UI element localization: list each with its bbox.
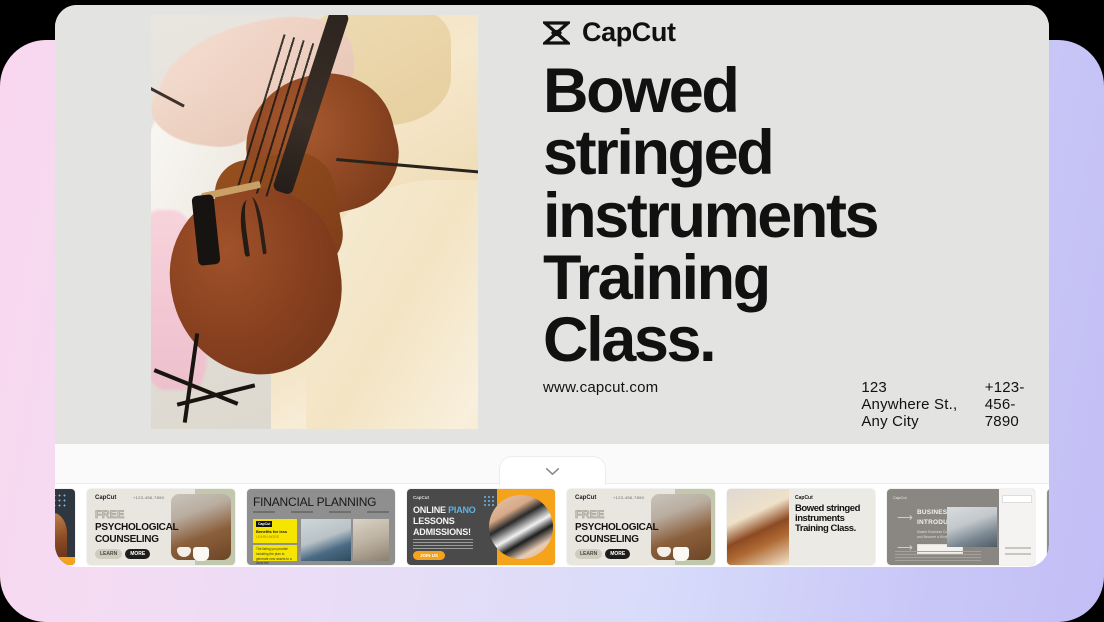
thumb-orange-bar [55,557,75,565]
thumb-cta-left: LEARN [95,549,122,559]
poster-headline: Bowed stringed instruments Training Clas… [543,60,1043,372]
thumb-piano-keys-photo [489,495,553,559]
thumb-brand: CapCut [795,495,813,501]
thumb-line-1: PSYCHOLOGICAL [95,522,178,533]
thumb-note-text: The listing you provide including the pl… [256,547,297,565]
thumb-photo-b [353,519,389,561]
poster-brand: CapCut [543,17,676,48]
poster-phone: +123-456-7890 [985,379,1039,430]
thumb-line-1: PSYCHOLOGICAL [575,522,658,533]
thumbnail-item-bowed-stringed-selected[interactable]: CapCut Bowed stringed instruments Traini… [727,489,875,565]
poster-contact-row: www.capcut.com 123 Anywhere St., Any Cit… [543,379,1039,430]
thumb-list-line-a [1005,547,1031,549]
thumb-list-line-b [1005,553,1031,555]
template-thumbnail-strip[interactable]: CapCut +123-456-7890 FREE PSYCHOLOGICAL … [55,485,1049,567]
thumb-search-box [1002,495,1032,503]
thumb-meta [253,511,389,513]
thumb-body-text [895,551,981,561]
thumbnail-item-psychological-counseling[interactable]: CapCut +123-456-7890 FREE PSYCHOLOGICAL … [87,489,235,565]
thumb-headline: Bowed stringed instruments Training Clas… [795,504,875,534]
thumb-line-1-a: ONLINE [413,505,448,515]
thumb-badge-brand: CapCut [256,521,272,527]
thumbnail-item-business-course[interactable]: ⟶ ⟶ CapCut BUSINESS COURSE INTRODUCTION … [887,489,1035,565]
thumbnail-list: CapCut +123-456-7890 FREE PSYCHOLOGICAL … [55,489,1049,565]
dot-pattern-icon [483,495,495,507]
thumb-cta: LEARN MORE [575,549,630,559]
thumbnail-item-financial-planning-2[interactable]: FINANCIAL PL CapCut Benefits for less LE… [1047,489,1049,565]
headline-line-1: Bowed [543,60,1043,122]
arrow-right-icon: ⟶ [897,511,913,524]
capcut-logo-icon [543,21,570,45]
thumb-photo [947,507,997,547]
thumbnail-item-psychological-counseling-2[interactable]: CapCut +123-456-7890 FREE PSYCHOLOGICAL … [567,489,715,565]
chevron-down-icon [545,467,560,476]
thumb-line-2: COUNSELING [575,534,639,545]
thumb-brand: CapCut [95,495,116,501]
headline-line-2: stringed [543,122,1043,184]
thumb-cta-right: MORE [605,549,630,559]
panel-divider [55,444,1049,484]
thumb-brand: CapCut [575,495,596,501]
thumb-line-1: ONLINE PIANO [413,505,476,515]
thumb-phone: +123-456-7890 [613,495,644,500]
thumb-brand: CapCut [893,495,907,500]
thumb-yellow-note: The listing you provide including the pl… [253,545,297,561]
thumb-line-2: LESSONS [413,516,455,526]
thumb-free-label: FREE [575,509,604,521]
thumb-free-label: FREE [95,509,124,521]
thumbnail-item-partial[interactable] [55,489,75,565]
thumb-photo-a [301,519,351,561]
thumb-photo [727,489,789,565]
thumb-line-3: ADMISSIONS! [413,527,471,537]
poster-brand-name: CapCut [582,17,676,48]
collapse-strip-button[interactable] [499,456,606,485]
headline-line-4: Training [543,247,1043,309]
headline-line-3: instruments [543,185,1043,247]
thumb-line-2: COUNSELING [95,534,159,545]
thumb-brand: CapCut [413,495,429,500]
headline-line-5: Class. [543,309,1043,371]
thumb-title: FINANCIAL PLANNING [253,495,376,509]
thumb-cta: JOIN US [413,551,445,560]
thumb-cta-right: MORE [125,549,150,559]
thumbnail-item-financial-planning[interactable]: FINANCIAL PLANNING CapCut Benefits for l… [247,489,395,565]
poster-text-column: CapCut Bowed stringed instruments Traini… [495,5,1049,444]
thumb-line-1-b: PIANO [448,505,476,515]
thumb-cta: LEARN MORE [95,549,150,559]
thumb-yellow-badge: CapCut Benefits for less LEARN MORE [253,519,297,543]
poster-photo-cellist [151,15,478,429]
thumb-cta-left: LEARN [575,549,602,559]
poster-canvas[interactable]: CapCut Bowed stringed instruments Traini… [55,5,1049,444]
thumbnail-item-online-piano-lessons[interactable]: CapCut ONLINE PIANO LESSONS ADMISSIONS! … [407,489,555,565]
poster-address: 123 Anywhere St., Any City [861,379,957,430]
poster-website: www.capcut.com [543,379,658,396]
dot-pattern-icon [55,493,68,507]
thumb-cup-b [193,547,209,561]
thumb-phone: +123-456-7890 [133,495,164,500]
thumb-body-text [413,539,473,551]
preview-card: CapCut Bowed stringed instruments Traini… [55,5,1049,567]
thumb-badge-headline: Benefits for less [256,529,287,534]
screen-root: CapCut Bowed stringed instruments Traini… [0,0,1104,622]
thumb-cup-b [673,547,689,561]
thumb-badge-sub: LEARN MORE [256,535,279,539]
